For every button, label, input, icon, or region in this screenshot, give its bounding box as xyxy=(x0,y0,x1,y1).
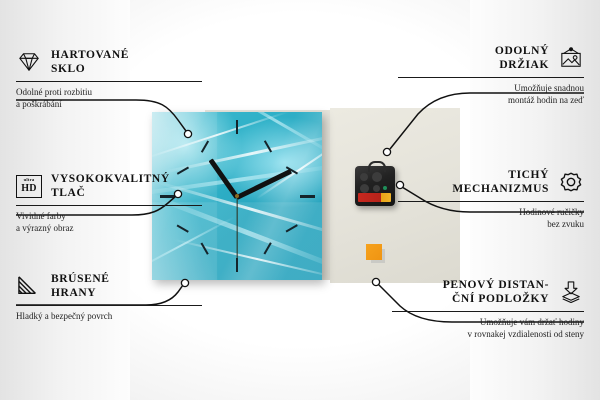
feature-description: Umožňuje vám držať hodiny v rovnakej vzd… xyxy=(392,317,584,340)
feature-description: Odolné proti rozbitiu a poškrábání xyxy=(16,87,202,110)
beveled-edges-icon xyxy=(16,275,42,297)
feature-title: VYSOKOKVALITNÝ TLAČ xyxy=(51,172,170,200)
feature-desc-line1: Odolné proti rozbitiu xyxy=(16,87,202,99)
feature-tempered-glass: HARTOVANÉ SKLO Odolné proti rozbitiu a p… xyxy=(16,48,202,110)
feature-divider xyxy=(16,205,202,206)
feature-description: Hodinové ručičky bez zvuku xyxy=(398,207,584,230)
feature-title-line1: HARTOVANÉ xyxy=(51,48,129,62)
product-infographic: HARTOVANÉ SKLO Odolné proti rozbitiu a p… xyxy=(0,0,600,400)
feature-title-line1: TICHÝ xyxy=(452,168,549,182)
feature-desc-line1: Umožňuje vám držať hodiny xyxy=(392,317,584,329)
feature-desc-line2: bez zvuku xyxy=(398,219,584,231)
picture-hanger-icon xyxy=(558,47,584,69)
feature-title-line1: VYSOKOKVALITNÝ xyxy=(51,172,170,186)
feature-silent-mechanism: TICHÝ MECHANIZMUS Hodinové ručičky bez z… xyxy=(398,168,584,230)
feature-title-line1: BRÚSENÉ xyxy=(51,272,110,286)
foam-spacer-icon xyxy=(558,281,584,303)
feature-desc-line2: v rovnakej vzdialenosti od steny xyxy=(392,329,584,341)
feature-durable-hanger: ODOLNÝ DRŽIAK Umožňuje snadnou montáž ho… xyxy=(398,44,584,106)
feature-desc-line2: a výrazný obraz xyxy=(16,223,202,235)
feature-title-line1: PENOVÝ DISTAN- xyxy=(443,278,549,292)
feature-beveled-edges: BRÚSENÉ HRANY Hladký a bezpečný povrch xyxy=(16,272,202,323)
feature-title: TICHÝ MECHANIZMUS xyxy=(452,168,549,196)
diamond-icon xyxy=(16,51,42,73)
feature-title-line2: HRANY xyxy=(51,286,110,300)
feature-divider xyxy=(16,81,202,82)
feature-divider xyxy=(392,311,584,312)
feature-title: PENOVÝ DISTAN- ČNÍ PODLOŽKY xyxy=(443,278,549,306)
feature-header: TICHÝ MECHANIZMUS xyxy=(398,168,584,196)
feature-desc-line1: Umožňuje snadnou xyxy=(398,83,584,95)
feature-desc-line2: montáž hodin na zeď xyxy=(398,95,584,107)
feature-title-line2: TLAČ xyxy=(51,186,170,200)
feature-title-line1: ODOLNÝ xyxy=(495,44,549,58)
feature-description: Umožňuje snadnou montáž hodin na zeď xyxy=(398,83,584,106)
feature-desc-line1: Hladký a bezpečný povrch xyxy=(16,311,202,323)
feature-title-line2: ČNÍ PODLOŽKY xyxy=(443,292,549,306)
feature-header: PENOVÝ DISTAN- ČNÍ PODLOŽKY xyxy=(392,278,584,306)
feature-foam-spacers: PENOVÝ DISTAN- ČNÍ PODLOŽKY Umožňuje vám… xyxy=(392,278,584,340)
feature-title-line2: MECHANIZMUS xyxy=(452,182,549,196)
feature-divider xyxy=(398,201,584,202)
feature-high-quality-print: ultra HD VYSOKOKVALITNÝ TLAČ Vividné far… xyxy=(16,172,202,234)
feature-description: Hladký a bezpečný povrch xyxy=(16,311,202,323)
feature-header: ultra HD VYSOKOKVALITNÝ TLAČ xyxy=(16,172,202,200)
feature-desc-line1: Vividné farby xyxy=(16,211,202,223)
feature-title: HARTOVANÉ SKLO xyxy=(51,48,129,76)
feature-description: Vividné farby a výrazný obraz xyxy=(16,211,202,234)
feature-title-line2: DRŽIAK xyxy=(495,58,549,72)
feature-title: BRÚSENÉ HRANY xyxy=(51,272,110,300)
ultra-hd-icon: ultra HD xyxy=(16,175,42,198)
feature-title: ODOLNÝ DRŽIAK xyxy=(495,44,549,72)
feature-title-line2: SKLO xyxy=(51,62,129,76)
gear-icon xyxy=(558,171,584,193)
feature-divider xyxy=(398,77,584,78)
feature-header: HARTOVANÉ SKLO xyxy=(16,48,202,76)
feature-header: ODOLNÝ DRŽIAK xyxy=(398,44,584,72)
feature-header: BRÚSENÉ HRANY xyxy=(16,272,202,300)
ultra-hd-large-label: HD xyxy=(21,184,37,194)
feature-desc-line2: a poškrábání xyxy=(16,99,202,111)
feature-divider xyxy=(16,305,202,306)
feature-desc-line1: Hodinové ručičky xyxy=(398,207,584,219)
